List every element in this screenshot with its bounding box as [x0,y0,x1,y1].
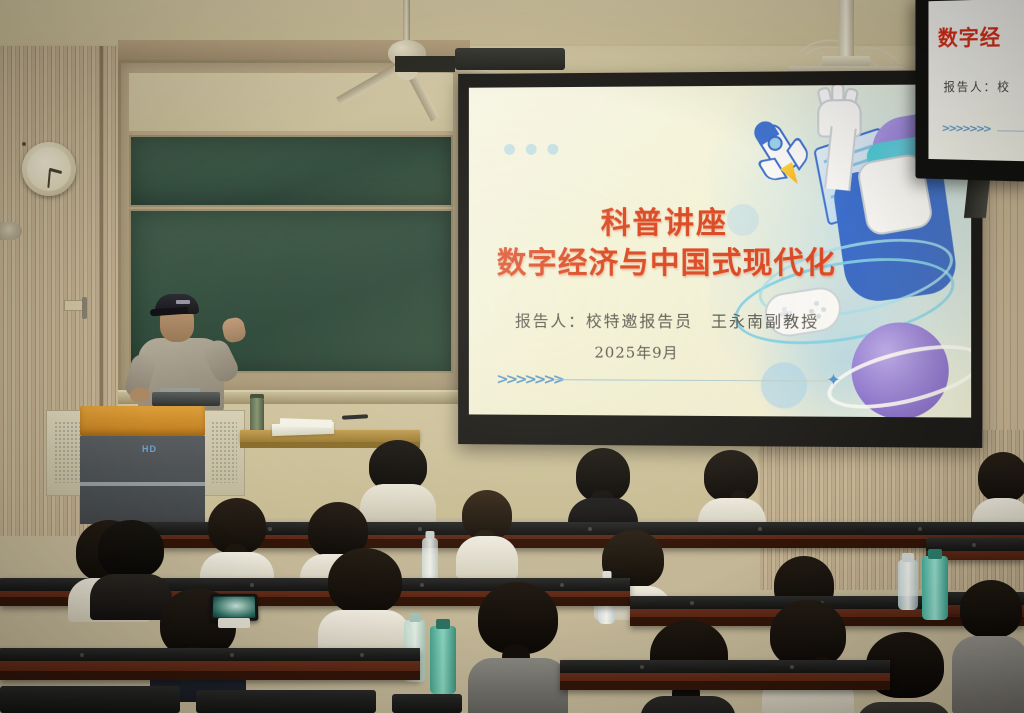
list-item [568,448,638,526]
fan-downrod [403,0,410,44]
bottle-cap [409,613,421,622]
phone-stand [218,618,250,628]
list-item [760,600,854,713]
person-torso [640,696,736,713]
monitor-title-text: 数字经 [938,21,1001,52]
desk-rail [0,648,420,661]
list-item [318,548,410,654]
wall-monitor: 数字经 报告人：校 >>>>>>> [915,0,1024,182]
lectern-divider [80,482,205,486]
slide-date: 2025年9月 [479,341,796,363]
slide-title-line1: 科普讲座 [487,198,845,242]
person-torso [856,702,952,713]
projection-screen-frame: 科普讲座 数字经济与中国式现代化 报告人：校特邀报告员 王永南副教授 2025年… [458,70,982,448]
seat-back-foreground [196,690,376,713]
smartphone-on-desk[interactable] [210,594,259,621]
desk-row-front-right [560,660,890,690]
seat-back-foreground [392,694,462,713]
slide-dot-icon [526,144,537,155]
lectern-brand-label: HD [142,444,157,454]
bottle-cap [426,531,435,539]
bottle-cap [436,619,450,629]
monitor-divider [997,130,1024,132]
tumbler-lid [902,553,914,562]
person-hair [770,600,846,668]
wall-plate [64,300,84,311]
list-item [952,580,1024,713]
monitor-chevron-icon: >>>>>>> [942,122,990,136]
desk-rail [560,660,890,673]
list-item [696,450,766,528]
presenter-right-hand [221,316,248,344]
tumbler [898,560,918,610]
speaker-cabinet-right [203,410,245,496]
seat-back-foreground [0,686,180,713]
monitor-presenter-text: 报告人：校 [943,78,1010,95]
projection-screen: 科普讲座 数字经济与中国式现代化 报告人：校特邀报告员 王永南副教授 2025年… [469,84,971,417]
door-handle[interactable] [82,297,87,319]
phone-screen [213,597,256,618]
slide-presenter: 报告人：校特邀报告员 王永南副教授 [479,308,857,333]
monitor-mount-arm [964,178,990,218]
slide-divider [555,379,829,381]
rocket-icon [740,111,816,195]
lectern-top [80,406,205,436]
chalkboard-panel-upper [129,135,453,207]
person-torso [456,536,518,578]
raised-hand-icon [809,99,865,192]
person-torso [468,658,568,713]
projector-pole [838,0,854,60]
person-hair [960,580,1022,638]
cap-logo [176,300,190,304]
wall-clock [22,142,76,196]
slide-title-line2: 数字经济与中国式现代化 [473,238,861,282]
slide-dot-icon [504,144,515,155]
wall-fixture [0,222,22,240]
green-tumbler [922,556,948,620]
person-hair [978,452,1024,502]
desk-equipment [152,392,220,406]
chevron-right-icon: >>>>>>> [496,370,562,388]
person-torso [952,636,1024,713]
speaker-grille [54,421,80,483]
list-item [468,582,568,713]
list-item [456,490,518,570]
clock-center-pin [22,142,26,146]
person-hair [328,548,402,614]
list-item [200,498,274,578]
green-bottle [430,626,456,694]
desk-row-front-left [0,648,420,680]
tumbler-lid [928,549,942,559]
list-item [972,452,1024,530]
lecture-hall-photo: 科普讲座 数字经济与中国式现代化 报告人：校特邀报告员 王永南副教授 2025年… [0,0,1024,713]
person-hair [98,520,164,578]
thermos-bottle [250,398,264,434]
decorative-blob [761,362,807,408]
water-bottle [422,538,438,582]
ceiling-bracket [395,56,455,72]
sparkle-icon: ✦ [826,370,840,390]
slide-dot-icon [547,144,558,155]
desk-underside [560,681,890,690]
presenter-left-hand [130,388,150,402]
speaker-grille [211,421,237,483]
ceiling-mount-box [455,48,565,70]
monitor-screen: 数字经 报告人：校 >>>>>>> [928,0,1024,161]
desk-underside [0,671,420,680]
forearm [824,126,857,191]
